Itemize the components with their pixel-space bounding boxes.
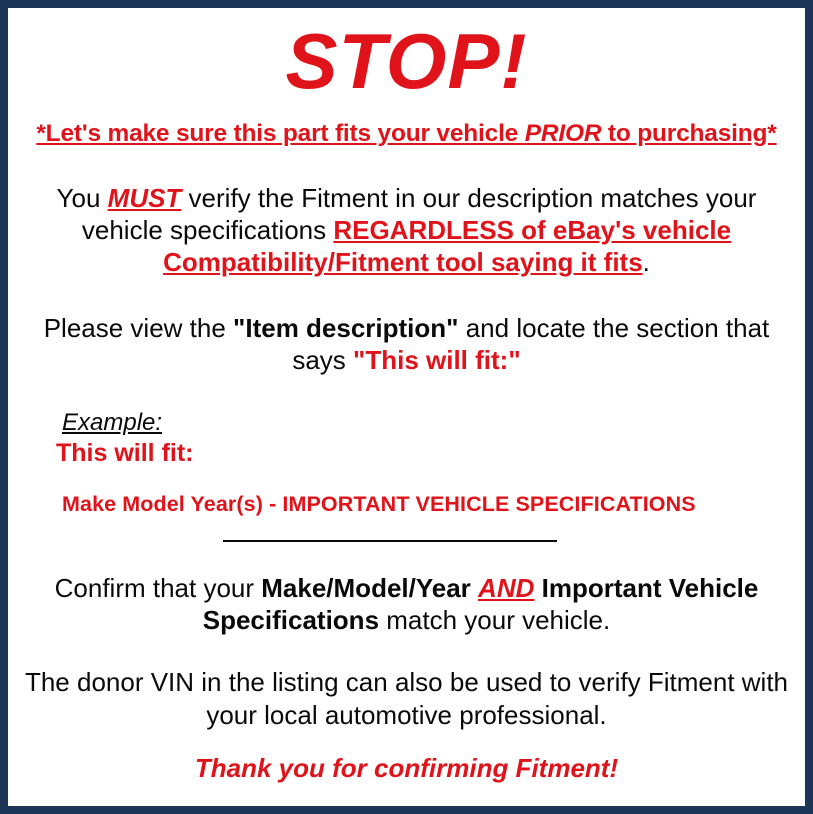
tagline-text-before: *Let's make sure this part fits your veh… <box>36 120 524 147</box>
confirm-emphasis-make-model-year: Make/Model/Year <box>261 573 471 603</box>
confirm-text-part4: match your vehicle. <box>379 605 610 635</box>
example-block: Example: This will fit: Make Model Year(… <box>22 409 791 518</box>
view-emphasis-item-description: "Item description" <box>233 313 458 343</box>
confirm-emphasis-and: AND <box>478 573 534 603</box>
confirm-text-part1: Confirm that your <box>55 573 262 603</box>
stop-headline: STOP! <box>22 22 791 102</box>
view-description-paragraph: Please view the "Item description" and l… <box>22 312 791 376</box>
verify-emphasis-must: MUST <box>108 183 182 213</box>
view-emphasis-this-will-fit: "This will fit:" <box>353 345 521 375</box>
fitment-notice-frame: STOP! *Let's make sure this part fits yo… <box>0 0 813 814</box>
thank-you-line: Thank you for confirming Fitment! <box>22 753 791 784</box>
verify-paragraph: You MUST verify the Fitment in our descr… <box>27 182 787 279</box>
donor-vin-paragraph: The donor VIN in the listing can also be… <box>22 666 791 730</box>
tagline-text-after: to purchasing* <box>601 120 776 147</box>
confirm-paragraph: Confirm that your Make/Model/Year AND Im… <box>27 572 787 636</box>
fitment-tagline: *Let's make sure this part fits your veh… <box>22 120 791 148</box>
verify-text-part3: . <box>643 247 650 277</box>
example-spec-line: Make Model Year(s) - IMPORTANT VEHICLE S… <box>62 492 791 518</box>
fitment-notice-content: STOP! *Let's make sure this part fits yo… <box>8 8 805 806</box>
verify-text-part1: You <box>57 183 108 213</box>
example-label: Example: <box>62 409 791 437</box>
example-fit-heading: This will fit: <box>56 438 791 468</box>
tagline-emphasis-prior: PRIOR <box>525 120 602 147</box>
confirm-text-part3 <box>534 573 541 603</box>
divider-wrapper <box>22 540 791 542</box>
section-divider <box>223 540 557 542</box>
confirm-text-part2 <box>471 573 478 603</box>
view-text-part1: Please view the <box>44 313 233 343</box>
